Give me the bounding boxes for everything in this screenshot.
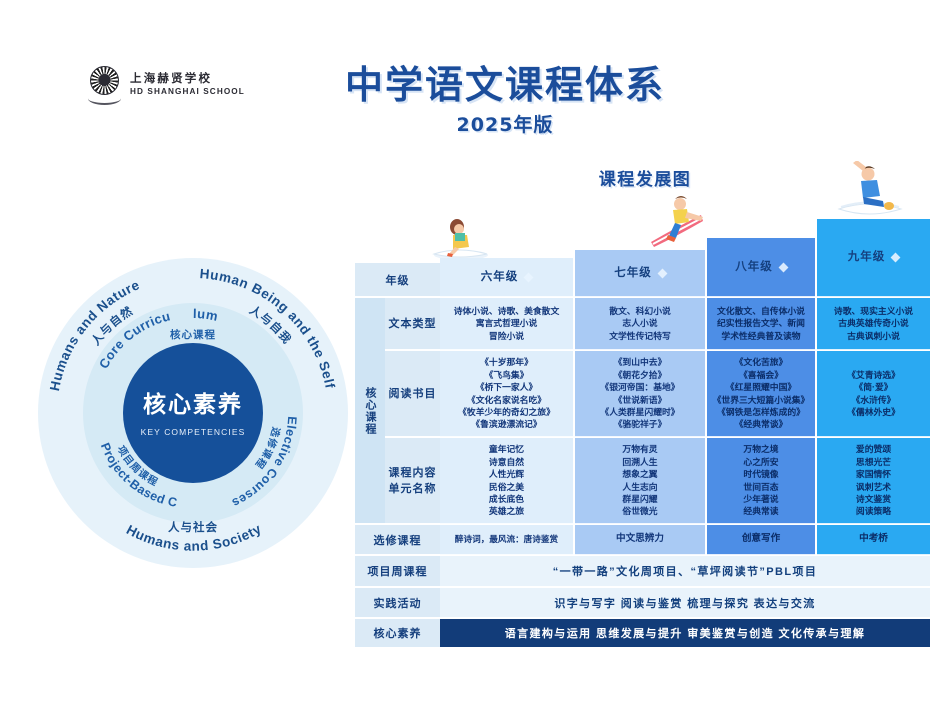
outer-label-cn-2: 人与社会 [168, 520, 218, 534]
logo-name-en: HD SHANGHAI SCHOOL [130, 86, 245, 98]
cell-reading-list-2: 《文化苦旅》 《喜福会》 《红星照耀中国》 《世界三大短篇小说集》 《钢铁是怎样… [707, 351, 815, 437]
cell-elective-1: 中文思辨力 [575, 525, 705, 555]
svg-text:lum: lum [193, 306, 220, 324]
cell-unit-name-2: 万物之境 心之所安 时代镜像 世间百态 少年著说 经典常读 [707, 438, 815, 524]
grade-label-0: 六年级 [481, 271, 519, 283]
cell-unit-name-0: 童年记忆 诗意自然 人性光辉 民俗之美 成长底色 英雄之旅 [440, 438, 573, 524]
cell-unit-name-3: 爱的赞颂 思想光芒 家国情怀 讽刺艺术 诗文鉴赏 阅读策略 [817, 438, 930, 524]
cell-elective-3: 中考桥 [817, 525, 930, 555]
cell-core-competency: 语言建构与运用 思维发展与提升 审美鉴赏与创造 文化传承与理解 [440, 619, 930, 647]
column-header-grade-0: 六年级 [440, 258, 573, 297]
curriculum-development-chart: 课程发展图 年级 六年级 七年级 [355, 155, 935, 645]
title-sub: 2025年版 [345, 110, 665, 137]
school-crest-icon [88, 66, 121, 104]
row-label-elective: 选修课程 [355, 525, 440, 555]
column-header-grade-2: 八年级 [707, 238, 815, 297]
cell-elective-0: 醉诗词，最风流：唐诗鉴赏 [440, 525, 573, 555]
diamond-icon [778, 262, 788, 272]
grade-label-2: 八年级 [735, 261, 773, 273]
school-logo: 上海赫贤学校 HD SHANGHAI SCHOOL [88, 66, 245, 104]
ring-text-layer: Humans and Nature Human Being and the Se… [38, 258, 348, 568]
grade-label-3: 九年级 [848, 251, 886, 263]
cell-text-type-2: 文化散文、自传体小说 纪实性报告文学、新闻 学术性经典普及读物 [707, 298, 815, 350]
cell-reading-list-0: 《十岁那年》 《飞鸟集》 《桥下一家人》 《文化名家说名吃》 《牧羊少年的奇幻之… [440, 351, 573, 437]
row-label-project-week: 项目周课程 [355, 556, 440, 587]
column-header-grade-3: 九年级 [817, 219, 930, 297]
svg-text:Core Curricu: Core Curricu [96, 308, 172, 371]
cell-project-week: “一带一路”文化周项目、“草坪阅读节”PBL项目 [440, 556, 930, 587]
inner-label-cn-0: 核心课程 [170, 328, 216, 341]
row-label-core-competency: 核心素养 [355, 619, 440, 647]
page-title: 中学语文课程体系 2025年版 [345, 63, 665, 137]
cell-unit-name-1: 万物有灵 回溯人生 想象之翼 人生志向 群星闪耀 俗世微光 [575, 438, 705, 524]
cell-elective-2: 创意写作 [707, 525, 815, 555]
logo-name-cn: 上海赫贤学校 [130, 72, 245, 86]
cell-text-type-3: 诗歌、现实主义小说 古典英雄传奇小说 古典讽刺小说 [817, 298, 930, 350]
cell-practice: 识字与写字 阅读与鉴赏 梳理与探究 表达与交流 [440, 588, 930, 618]
cell-text-type-1: 散文、科幻小说 志人小说 文学性传记特写 [575, 298, 705, 350]
cell-reading-list-3: 《艾青诗选》 《简·爱》 《水浒传》 《儒林外史》 [817, 351, 930, 437]
core-competency-diagram: 核心素养 KEY COMPETENCIES Humans and Nature … [38, 258, 348, 568]
column-header-grade-1: 七年级 [575, 250, 705, 297]
diamond-icon [657, 268, 667, 278]
title-main: 中学语文课程体系 [345, 63, 665, 107]
cell-text-type-0: 诗体小说、诗歌、美食散文 寓言式哲理小说 冒险小说 [440, 298, 573, 350]
cell-reading-list-1: 《到山中去》 《朝花夕拾》 《银河帝国：基地》 《世说新语》 《人类群星闪耀时》… [575, 351, 705, 437]
diamond-icon [891, 253, 901, 263]
row-label-practice: 实践活动 [355, 588, 440, 618]
row-label-grade: 年级 [355, 263, 440, 297]
inner-label-en-0: Core Curricu [96, 308, 172, 371]
diamond-icon [524, 272, 534, 282]
row-label-reading-list: 阅读书目 [385, 351, 440, 437]
row-label-text-type: 文本类型 [385, 298, 440, 350]
grade-label-1: 七年级 [614, 267, 652, 279]
row-label-unit-name: 课程内容 单元名称 [385, 438, 440, 524]
row-group-label-core: 核心课程 [355, 298, 385, 524]
